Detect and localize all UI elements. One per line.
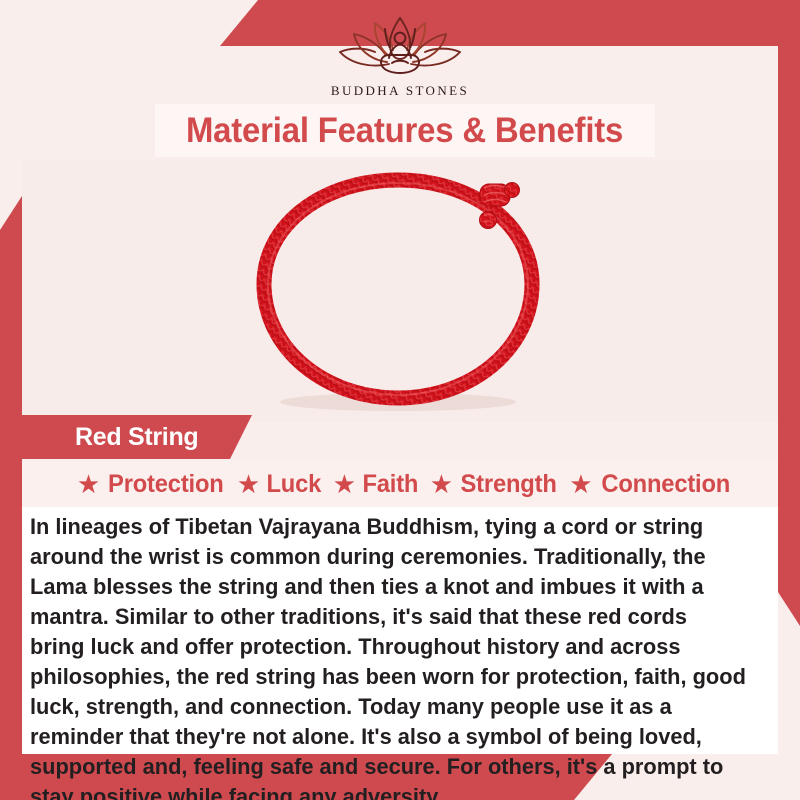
red-string-bracelet-image [240,166,560,416]
benefit-label: Faith [363,470,419,499]
description-text: In lineages of Tibetan Vajrayana Buddhis… [30,512,746,800]
star-icon: ★ [430,471,453,497]
brand-logo: BUDDHA STONES [0,8,800,99]
star-icon: ★ [77,471,100,497]
star-icon: ★ [569,471,592,497]
lotus-meditation-icon [327,8,473,80]
benefit-label: Strength [461,470,557,499]
material-name: Red String [22,423,198,452]
star-icon: ★ [333,471,356,497]
page-title: Material Features & Benefits [186,111,623,151]
benefit-item-protection: ★ Protection [67,470,227,499]
infographic-page: BUDDHA STONES Material Features & Benefi… [0,0,800,800]
brand-name: BUDDHA STONES [331,83,469,99]
benefit-item-connection: ★ Connection [559,470,733,499]
material-name-ribbon: Red String [22,415,252,459]
benefit-item-strength: ★ Strength [420,470,559,499]
benefits-row: ★ Protection ★ Luck ★ Faith ★ Strength ★… [22,461,778,507]
benefit-label: Protection [108,470,224,499]
benefit-item-luck: ★ Luck [227,470,323,499]
star-icon: ★ [237,471,260,497]
frame-bar-left [0,196,22,800]
product-photo [22,160,778,422]
benefit-item-faith: ★ Faith [323,470,420,499]
benefit-label: Luck [267,470,322,499]
benefit-label: Connection [601,470,730,499]
title-banner: Material Features & Benefits [155,104,655,157]
description-panel: In lineages of Tibetan Vajrayana Buddhis… [22,507,778,754]
